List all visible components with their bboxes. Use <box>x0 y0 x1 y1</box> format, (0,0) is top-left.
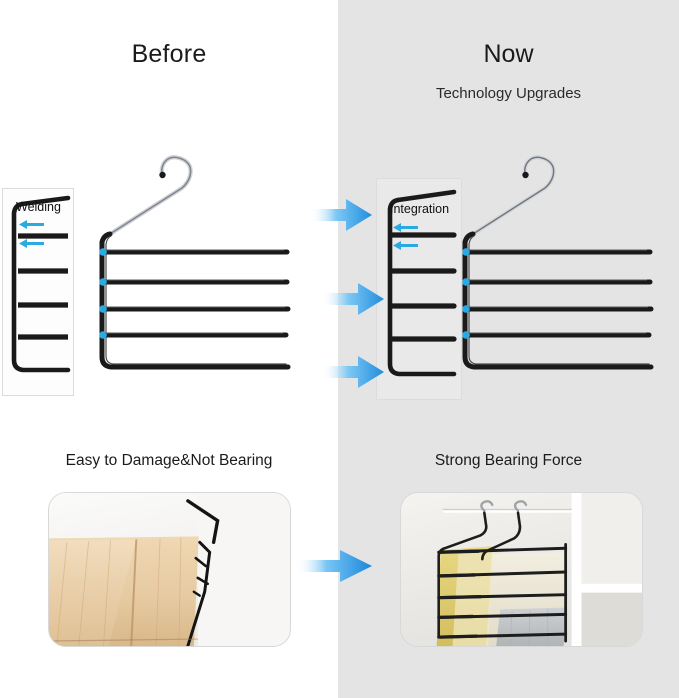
caption-strong-bearing-force: Strong Bearing Force <box>338 452 679 470</box>
subheading-technology-upgrades: Technology Upgrades <box>338 85 679 102</box>
arrow-left-icon <box>392 222 418 233</box>
hanger-hook-icon <box>473 157 554 234</box>
arrow-left-icon <box>18 219 44 230</box>
photo-damaged-hanger <box>48 492 291 647</box>
photo-loaded-hangers <box>400 492 643 647</box>
arrow-right-icon <box>296 548 372 584</box>
callout-label-welding: Welding <box>16 200 61 214</box>
hanger-support-bars <box>467 250 651 335</box>
hanger-hook-icon <box>110 157 191 234</box>
heading-now: Now <box>338 40 679 69</box>
heading-before: Before <box>0 40 338 69</box>
arrow-left-icon <box>392 240 418 251</box>
arrow-right-icon <box>322 355 384 389</box>
callout-label-integration: Integration <box>390 202 449 216</box>
callout-welded-bars <box>18 236 68 337</box>
hanger-graphic-now <box>443 152 679 392</box>
hanger-graphic-before <box>78 152 330 392</box>
arrow-left-icon <box>18 238 44 249</box>
arrow-right-icon <box>322 282 384 316</box>
hanger-support-bars <box>104 250 288 335</box>
arrow-right-icon <box>310 198 372 232</box>
infographic-root: Before Now Technology Upgrades <box>0 0 679 698</box>
caption-easy-to-damage: Easy to Damage&Not Bearing <box>0 452 338 470</box>
